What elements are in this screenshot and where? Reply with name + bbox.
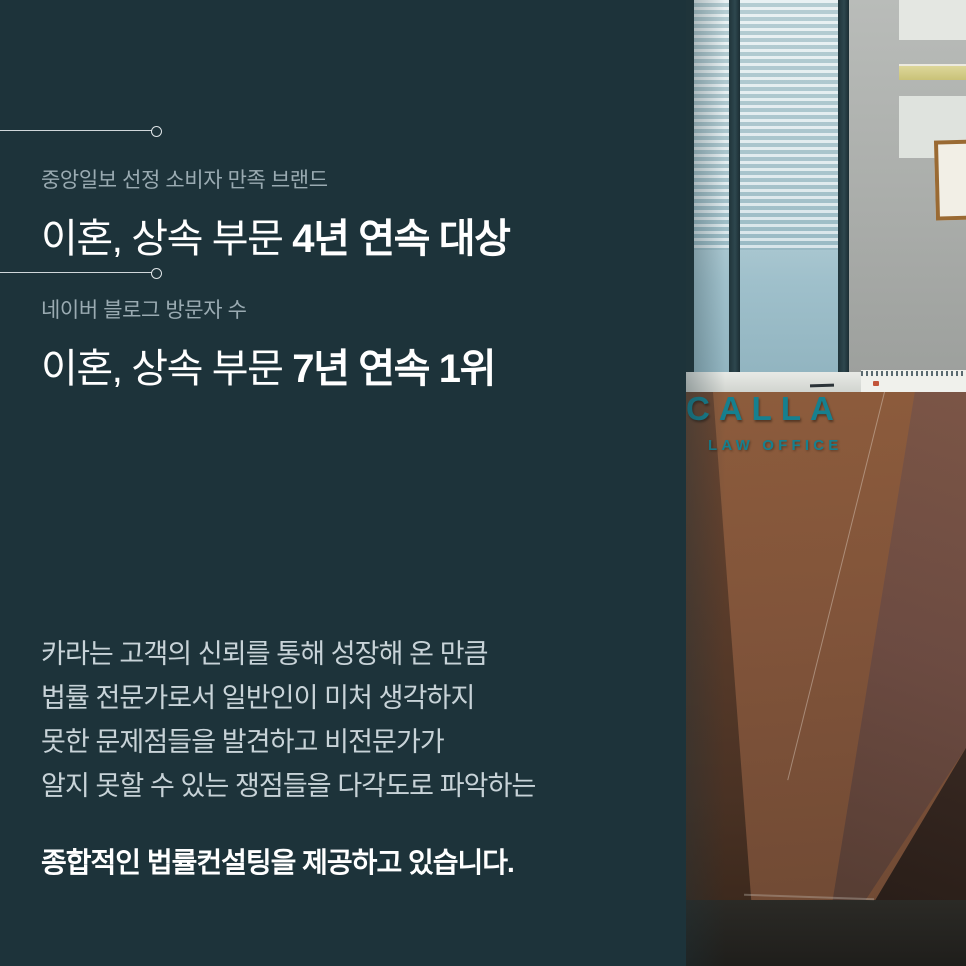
award-eyebrow-2: 네이버 블로그 방문자 수	[41, 294, 247, 324]
award-headline-2: 이혼, 상속 부문 7년 연속 1위	[41, 336, 495, 394]
framed-certificate	[934, 139, 966, 220]
office-photo: CALLA LAW OFFICE	[686, 0, 966, 966]
body-line: 알지 못할 수 있는 쟁점들을 다각도로 파악하는	[41, 764, 661, 808]
wall-frame-top	[899, 0, 966, 40]
calendar-date-marker	[873, 381, 879, 386]
divider-rule-2	[0, 272, 155, 273]
signage-brand-name: CALLA	[686, 392, 886, 425]
wall-frame-yellow	[899, 64, 966, 80]
body-closing-statement: 종합적인 법률컨설팅을 제공하고 있습니다.	[41, 841, 514, 881]
award-headline-2-bold: 7년 연속 1위	[292, 347, 495, 391]
body-copy: 카라는 고객의 신뢰를 통해 성장해 온 만큼 법률 전문가로서 일반인이 미처…	[41, 632, 661, 808]
calendar-spiral-binding	[861, 371, 966, 376]
award-headline-1-light: 이혼, 상속 부문	[41, 217, 292, 261]
award-headline-1-bold: 4년 연속 대상	[292, 217, 509, 261]
partition-mullion-right	[838, 0, 849, 392]
signage-wrap: CALLA LAW OFFICE	[686, 392, 966, 592]
award-headline-2-light: 이혼, 상속 부문	[41, 347, 292, 391]
calla-signage: CALLA LAW OFFICE	[686, 392, 886, 454]
body-line: 법률 전문가로서 일반인이 미처 생각하지	[41, 676, 661, 720]
award-eyebrow-1: 중앙일보 선정 소비자 만족 브랜드	[41, 164, 328, 194]
window-blinds	[686, 0, 846, 250]
promo-card: CALLA LAW OFFICE 중앙일보 선정 소비자 만족 브랜드 이혼, …	[0, 0, 966, 966]
partition-edge	[686, 0, 694, 392]
content-panel: 중앙일보 선정 소비자 만족 브랜드 이혼, 상속 부문 4년 연속 대상 네이…	[0, 0, 686, 966]
divider-dot-2	[151, 268, 162, 279]
signage-tagline: LAW OFFICE	[708, 437, 886, 454]
partition-mullion-left	[729, 0, 740, 392]
floor	[686, 900, 966, 966]
body-line: 못한 문제점들을 발견하고 비전문가가	[41, 720, 661, 764]
divider-dot-1	[151, 126, 162, 137]
body-line: 카라는 고객의 신뢰를 통해 성장해 온 만큼	[41, 632, 661, 676]
divider-rule-1	[0, 130, 155, 131]
award-headline-1: 이혼, 상속 부문 4년 연속 대상	[41, 206, 510, 264]
